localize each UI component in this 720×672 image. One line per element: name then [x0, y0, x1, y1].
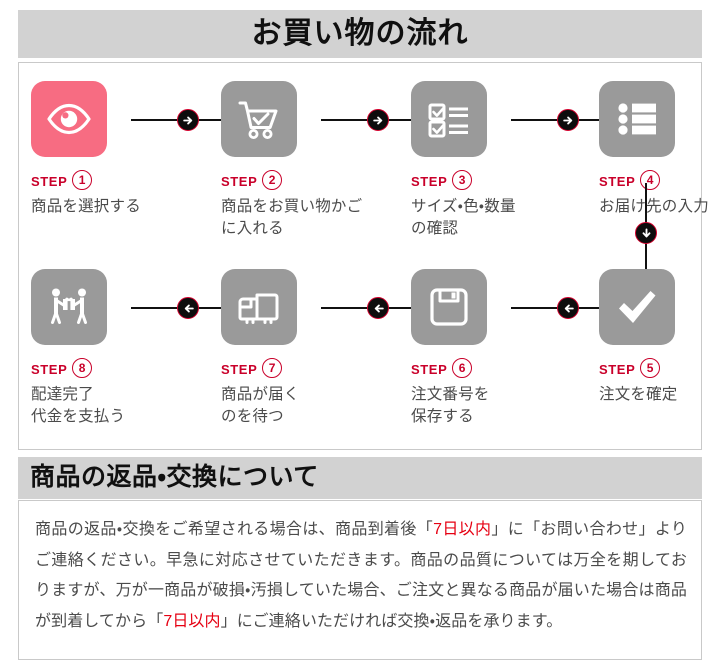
note-text-run: 商品の返品・交換をご希望される場合は、商品到着後「 — [35, 521, 433, 538]
step-number: 7 — [262, 358, 282, 378]
step-5-label: STEP 5 — [599, 359, 720, 379]
step-7-text: 商品が届く のを待つ — [221, 384, 381, 428]
step-3-text: サイズ・色・数量 の確認 — [411, 196, 571, 240]
step-number: 4 — [640, 170, 660, 190]
shopping-flow-page: お買い物の流れ STEP — [0, 0, 720, 672]
flow-diagram-panel: STEP 1 商品を選択する — [18, 62, 702, 450]
step-number: 6 — [452, 358, 472, 378]
step-4-text: お届け先の入力 — [599, 196, 720, 218]
flow-step-1[interactable]: STEP 1 商品を選択する — [31, 81, 191, 218]
step-prefix: STEP — [411, 363, 447, 376]
step-1-label: STEP 1 — [31, 171, 191, 191]
arrow-right-icon — [557, 109, 579, 131]
arrow-right-icon — [367, 109, 389, 131]
step-3-tile — [411, 81, 487, 157]
step-prefix: STEP — [31, 363, 67, 376]
step-2-text: 商品をお買い物かご に入れる — [221, 196, 381, 240]
step-number: 8 — [72, 358, 92, 378]
step-8-tile — [31, 269, 107, 345]
flow-row-top: STEP 1 商品を選択する — [19, 69, 703, 259]
step-number: 5 — [640, 358, 660, 378]
arrow-left-icon — [557, 297, 579, 319]
step-2-tile — [221, 81, 297, 157]
step-number: 3 — [452, 170, 472, 190]
step-5-tile — [599, 269, 675, 345]
step-prefix: STEP — [411, 175, 447, 188]
shopping-cart-icon — [235, 95, 283, 143]
flow-step-3[interactable]: STEP 3 サイズ・色・数量 の確認 — [411, 81, 571, 240]
arrow-left-icon — [177, 297, 199, 319]
step-7-tile — [221, 269, 297, 345]
package-handoff-icon — [45, 283, 93, 331]
returns-section-title: 商品の返品・交換について — [18, 457, 702, 499]
step-5-text: 注文を確定 — [599, 384, 720, 406]
step-number: 2 — [262, 170, 282, 190]
step-6-label: STEP 6 — [411, 359, 571, 379]
step-prefix: STEP — [599, 363, 635, 376]
step-2-label: STEP 2 — [221, 171, 381, 191]
step-3-label: STEP 3 — [411, 171, 571, 191]
step-6-text: 注文番号を 保存する — [411, 384, 571, 428]
flow-step-8[interactable]: STEP 8 配達完了 代金を支払う — [31, 269, 191, 428]
checklist-icon — [425, 95, 473, 143]
flow-step-5[interactable]: STEP 5 注文を確定 — [599, 269, 720, 406]
delivery-truck-icon — [235, 283, 283, 331]
step-8-text: 配達完了 代金を支払う — [31, 384, 191, 428]
arrow-down-icon — [635, 222, 657, 244]
step-4-label: STEP 4 — [599, 171, 720, 191]
eye-icon — [45, 95, 93, 143]
step-prefix: STEP — [221, 363, 257, 376]
checkmark-icon — [613, 283, 661, 331]
flow-row-bottom: STEP 8 配達完了 代金を支払う — [19, 257, 703, 447]
returns-note-panel: 商品の返品・交換をご希望される場合は、商品到着後「7日以内」に「お問い合わせ」よ… — [18, 500, 702, 660]
flow-step-4[interactable]: STEP 4 お届け先の入力 — [599, 81, 720, 218]
step-6-tile — [411, 269, 487, 345]
step-1-text: 商品を選択する — [31, 196, 191, 218]
highlight-term: 7日以内 — [433, 521, 491, 538]
step-prefix: STEP — [599, 175, 635, 188]
step-prefix: STEP — [221, 175, 257, 188]
flow-step-2[interactable]: STEP 2 商品をお買い物かご に入れる — [221, 81, 381, 240]
step-1-tile — [31, 81, 107, 157]
step-4-tile — [599, 81, 675, 157]
step-number: 1 — [72, 170, 92, 190]
step-prefix: STEP — [31, 175, 67, 188]
step-8-label: STEP 8 — [31, 359, 191, 379]
arrow-right-icon — [177, 109, 199, 131]
bulleted-list-icon — [613, 95, 661, 143]
flow-step-7[interactable]: STEP 7 商品が届く のを待つ — [221, 269, 381, 428]
arrow-left-icon — [367, 297, 389, 319]
step-7-label: STEP 7 — [221, 359, 381, 379]
returns-note-text: 商品の返品・交換をご希望される場合は、商品到着後「7日以内」に「お問い合わせ」よ… — [35, 515, 687, 638]
floppy-disk-save-icon — [425, 283, 473, 331]
note-text-run: 」にご連絡いただければ交換・返品を承ります。 — [221, 613, 563, 630]
page-title: お買い物の流れ — [18, 10, 702, 58]
highlight-term: 7日以内 — [163, 613, 220, 630]
flow-step-6[interactable]: STEP 6 注文番号を 保存する — [411, 269, 571, 428]
